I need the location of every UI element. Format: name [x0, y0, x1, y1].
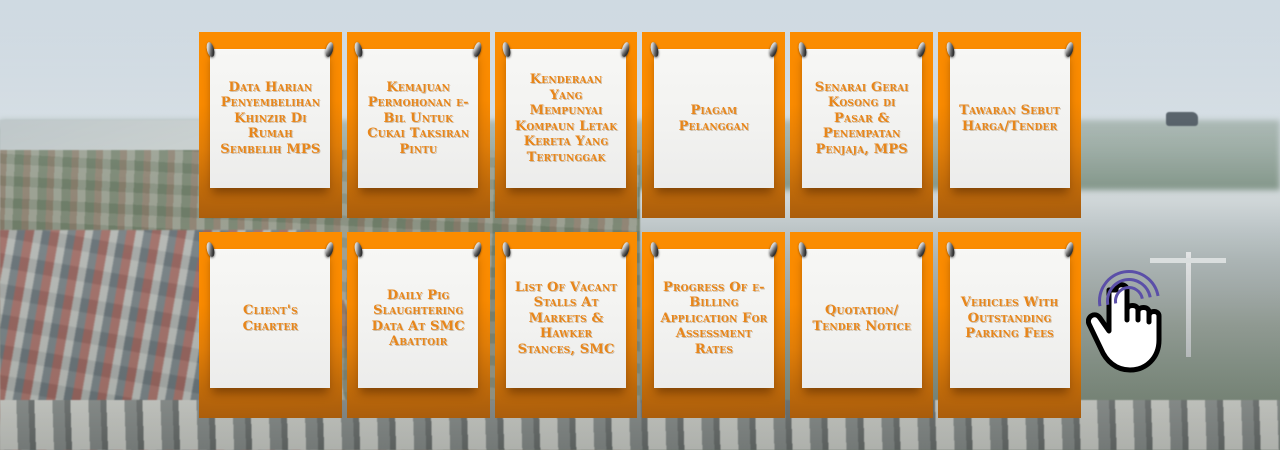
paper-clip-icon — [1064, 241, 1074, 257]
paper-clip-icon — [1064, 41, 1074, 57]
tile-senarai-gerai-kosong[interactable]: Senarai Gerai Kosong di Pasar & Penempat… — [790, 32, 933, 218]
paper-clip-icon — [916, 241, 926, 257]
tile-progress-of-e-billing[interactable]: Progress Of e-Billing Application For As… — [642, 232, 785, 418]
paper-clip-icon — [473, 241, 483, 257]
tile-paper: Senarai Gerai Kosong di Pasar & Penempat… — [802, 49, 922, 188]
tile-label: Kemajuan Permohonan e-Bil Untuk Cukai Ta… — [363, 80, 473, 158]
tile-vehicles-outstanding-parking-fees[interactable]: Vehicles With Outstanding Parking Fees — [938, 232, 1081, 418]
tile-paper: Progress Of e-Billing Application For As… — [654, 249, 774, 388]
tile-paper: Daily Pig Slaughtering Data At SMC Abatt… — [358, 249, 478, 388]
paper-clip-icon — [325, 241, 335, 257]
tile-piagam-pelanggan[interactable]: Piagam Pelanggan — [642, 32, 785, 218]
tile-label: Daily Pig Slaughtering Data At SMC Abatt… — [363, 288, 473, 350]
tile-label: Data Harian Penyembelihan Khinzir Di Rum… — [215, 80, 325, 158]
tile-paper: Quotation/ Tender Notice — [802, 249, 922, 388]
tile-label: List Of Vacant Stalls At Markets & Hawke… — [511, 280, 621, 358]
tile-label: Tawaran Sebut Harga/Tender — [955, 103, 1065, 134]
paper-clip-icon — [768, 41, 778, 57]
tile-quotation-tender-notice[interactable]: Quotation/ Tender Notice — [790, 232, 933, 418]
tile-label: Quotation/ Tender Notice — [807, 303, 917, 334]
tile-label: Progress Of e-Billing Application For As… — [659, 280, 769, 358]
paper-clip-icon — [797, 241, 807, 257]
tile-paper: Tawaran Sebut Harga/Tender — [950, 49, 1070, 188]
tile-list-of-vacant-stalls[interactable]: List Of Vacant Stalls At Markets & Hawke… — [495, 232, 638, 418]
paper-clip-icon — [649, 241, 659, 257]
tile-label: Kenderaan Yang Mempunyai Kompaun Letak K… — [511, 72, 621, 165]
paper-clip-icon — [797, 41, 807, 57]
tile-paper: List Of Vacant Stalls At Markets & Hawke… — [506, 249, 626, 388]
tile-data-harian-penyembelihan[interactable]: Data Harian Penyembelihan Khinzir Di Rum… — [199, 32, 342, 218]
paper-clip-icon — [649, 41, 659, 57]
paper-clip-icon — [473, 41, 483, 57]
tile-daily-pig-slaughtering-data[interactable]: Daily Pig Slaughtering Data At SMC Abatt… — [347, 232, 490, 418]
paper-clip-icon — [354, 41, 364, 57]
paper-clip-icon — [206, 241, 216, 257]
paper-clip-icon — [768, 241, 778, 257]
paper-clip-icon — [325, 41, 335, 57]
paper-clip-icon — [501, 41, 511, 57]
paper-clip-icon — [945, 41, 955, 57]
tile-label: Vehicles With Outstanding Parking Fees — [955, 295, 1065, 342]
tile-paper: Vehicles With Outstanding Parking Fees — [950, 249, 1070, 388]
service-tile-grid: Data Harian Penyembelihan Khinzir Di Rum… — [199, 32, 1081, 418]
tile-paper: Piagam Pelanggan — [654, 49, 774, 188]
tile-paper: Data Harian Penyembelihan Khinzir Di Rum… — [210, 49, 330, 188]
tile-kenderaan-kompaun-letak-kereta[interactable]: Kenderaan Yang Mempunyai Kompaun Letak K… — [495, 32, 638, 218]
paper-clip-icon — [945, 241, 955, 257]
tile-tawaran-sebut-harga-tender[interactable]: Tawaran Sebut Harga/Tender — [938, 32, 1081, 218]
paper-clip-icon — [916, 41, 926, 57]
paper-clip-icon — [206, 41, 216, 57]
paper-clip-icon — [620, 241, 630, 257]
tile-kemajuan-permohonan-e-bil[interactable]: Kemajuan Permohonan e-Bil Untuk Cukai Ta… — [347, 32, 490, 218]
paper-clip-icon — [354, 241, 364, 257]
tile-label: Senarai Gerai Kosong di Pasar & Penempat… — [807, 80, 917, 158]
tile-clients-charter[interactable]: Client's Charter — [199, 232, 342, 418]
tile-paper: Client's Charter — [210, 249, 330, 388]
tile-label: Piagam Pelanggan — [659, 103, 769, 134]
tile-paper: Kenderaan Yang Mempunyai Kompaun Letak K… — [506, 49, 626, 188]
paper-clip-icon — [620, 41, 630, 57]
tile-paper: Kemajuan Permohonan e-Bil Untuk Cukai Ta… — [358, 49, 478, 188]
tile-label: Client's Charter — [215, 303, 325, 334]
paper-clip-icon — [501, 241, 511, 257]
